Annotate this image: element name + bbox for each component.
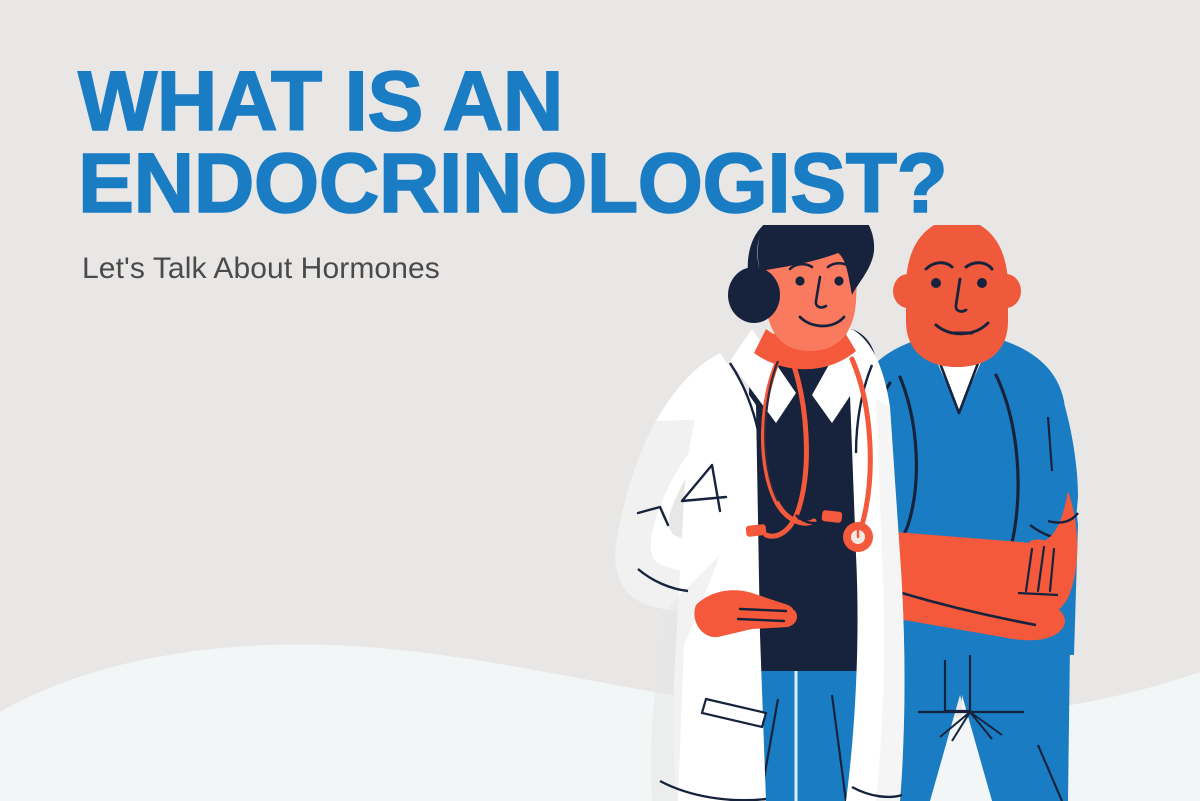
page-title: WHAT IS AN ENDOCRINOLOGIST? (78, 60, 1058, 225)
two-doctors-illustration (600, 225, 1120, 801)
page-subtitle: Let's Talk About Hormones (82, 251, 1058, 287)
female-doctor-figure (615, 225, 904, 801)
banner-text-block: WHAT IS AN ENDOCRINOLOGIST? Let's Talk A… (78, 60, 1058, 287)
endocrinologist-banner: WHAT IS AN ENDOCRINOLOGIST? Let's Talk A… (0, 0, 1200, 801)
